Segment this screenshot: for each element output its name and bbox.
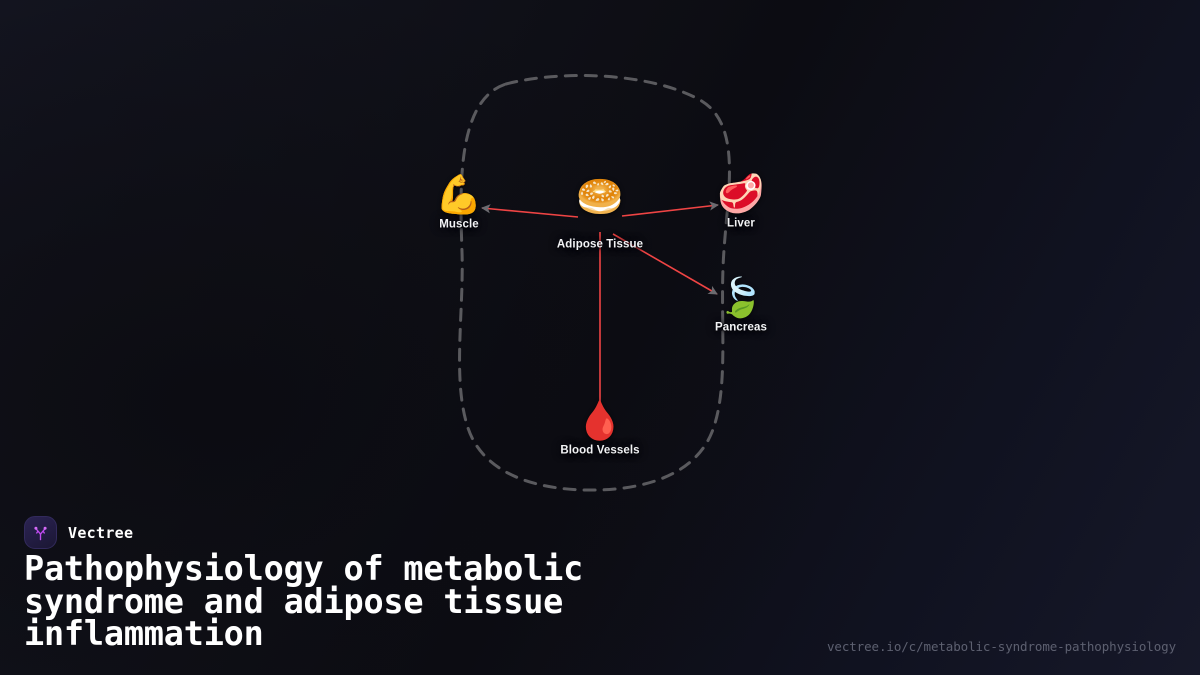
page-title: Pathophysiology of metabolic syndrome an… (24, 553, 704, 651)
drop-of-blood-icon: 🩸 (576, 402, 623, 440)
leaf-fluttering-icon: 🍃 (717, 279, 764, 317)
graph-node-label-pancreas: Pancreas (715, 322, 767, 334)
graph-node-blood-vessels[interactable]: 🩸 Blood Vessels (525, 402, 675, 457)
graph-node-label-liver: Liver (727, 218, 755, 230)
vectree-tree-logo-icon (24, 516, 57, 549)
source-url: vectree.io/c/metabolic-syndrome-pathophy… (827, 639, 1176, 654)
bagel-icon: 🥯 (576, 178, 623, 216)
flexed-biceps-icon: 💪 (435, 176, 482, 214)
graph-node-adipose-tissue[interactable]: 🥯 Adipose Tissue (525, 178, 675, 251)
brand-name: Vectree (68, 524, 133, 542)
graph-node-pancreas[interactable]: 🍃 Pancreas (666, 279, 816, 334)
graph-node-label-blood-vessels: Blood Vessels (560, 445, 639, 457)
cut-of-meat-icon: 🥩 (717, 175, 764, 213)
concept-graph-canvas[interactable]: 💪 Muscle 🥯 Adipose Tissue 🥩 Liver 🍃 Panc… (0, 0, 1200, 505)
brand-lockup[interactable]: Vectree (24, 516, 133, 549)
graph-node-label-muscle: Muscle (439, 219, 479, 231)
footer: Vectree Pathophysiology of metabolic syn… (0, 503, 1200, 675)
screenshot-root: 💪 Muscle 🥯 Adipose Tissue 🥩 Liver 🍃 Panc… (0, 0, 1200, 675)
graph-node-liver[interactable]: 🥩 Liver (666, 175, 816, 230)
graph-node-muscle[interactable]: 💪 Muscle (384, 176, 534, 231)
graph-node-label-adipose-tissue: Adipose Tissue (557, 239, 643, 251)
